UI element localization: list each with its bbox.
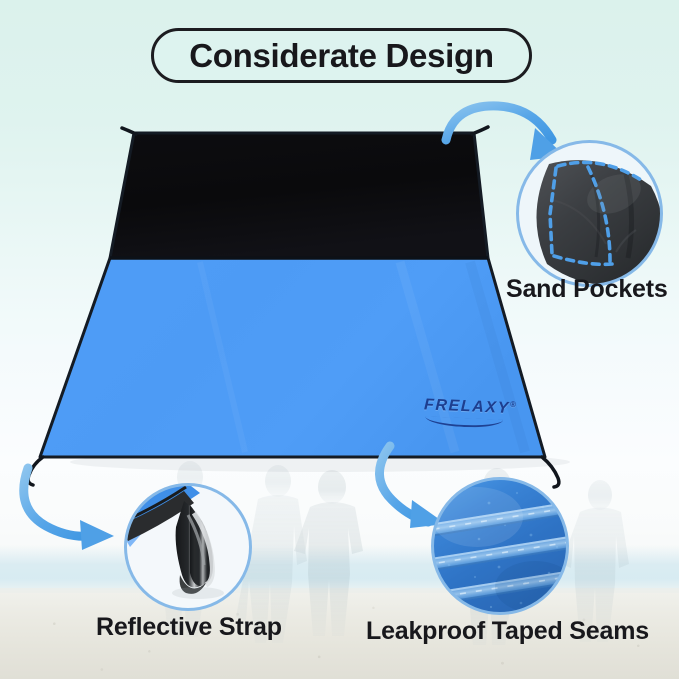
callout-label-reflective-strap: Reflective Strap [96, 613, 282, 642]
callout-label-taped-seams: Leakproof Taped Seams [366, 617, 649, 646]
sand-pockets-detail-photo [516, 140, 663, 287]
product-feature-image: Considerate Design [0, 0, 679, 679]
corner-tab-top-left [122, 128, 136, 134]
brand-registered-mark: ® [510, 400, 516, 409]
taped-seams-detail-photo [431, 477, 569, 615]
arrow-to-reflective-strap-icon [6, 460, 136, 550]
brand-logo-text: FRELAXY [424, 396, 511, 417]
callout-label-sand-pockets: Sand Pockets [506, 275, 668, 304]
reflective-strap-detail-photo [124, 483, 252, 611]
mat-black-panel [110, 133, 488, 258]
